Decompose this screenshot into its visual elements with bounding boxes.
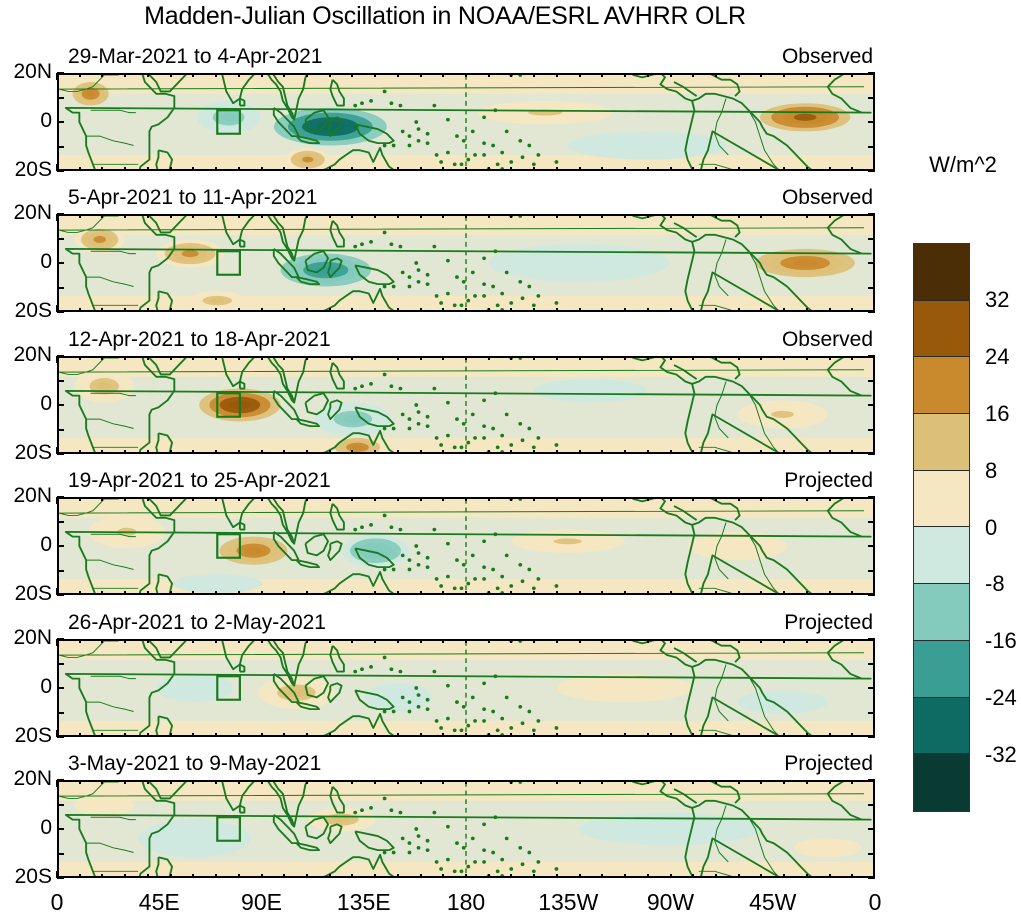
axis-tick: [306, 214, 308, 218]
colorbar-tick-label: 8: [985, 458, 997, 484]
axis-tick: [192, 639, 194, 643]
axis-tick: [261, 167, 263, 171]
colorbar-tick-label: 0: [985, 515, 997, 541]
axis-tick: [624, 214, 626, 218]
axis-tick: [760, 356, 762, 360]
axis-tick: [851, 591, 853, 595]
axis-tick: [329, 591, 331, 595]
axis-tick: [829, 308, 831, 312]
axis-tick: [670, 73, 672, 77]
longitude-tick-label: 0: [869, 889, 882, 916]
axis-tick: [57, 355, 64, 357]
axis-tick: [647, 639, 649, 643]
axis-tick: [79, 356, 81, 360]
axis-tick: [624, 167, 626, 171]
axis-tick: [533, 73, 535, 77]
axis-tick: [57, 404, 64, 406]
axis-tick: [57, 570, 64, 572]
axis-tick: [215, 450, 217, 454]
axis-tick: [738, 639, 740, 643]
axis-tick: [351, 639, 353, 643]
axis-tick: [510, 733, 512, 737]
longitude-tick-label: 135W: [538, 889, 598, 916]
axis-tick: [868, 496, 875, 498]
axis-tick: [215, 214, 217, 218]
axis-tick: [101, 167, 103, 171]
axis-tick: [420, 308, 422, 312]
axis-tick: [442, 639, 444, 643]
axis-tick: [868, 287, 875, 289]
axis-tick: [510, 167, 512, 171]
axis-tick: [329, 356, 331, 360]
axis-tick: [101, 356, 103, 360]
axis-tick: [868, 828, 875, 830]
axis-tick: [420, 73, 422, 77]
axis-tick: [420, 167, 422, 171]
axis-tick: [851, 214, 853, 218]
colorbar-band: [914, 357, 969, 414]
axis-tick: [692, 733, 694, 737]
axis-tick: [79, 450, 81, 454]
axis-tick: [647, 214, 649, 218]
axis-tick: [715, 780, 717, 784]
axis-tick: [488, 733, 490, 737]
latitude-tick-label: 20S: [0, 299, 52, 323]
axis-tick: [692, 356, 694, 360]
axis-tick: [147, 497, 149, 501]
axis-tick: [374, 639, 376, 643]
axis-tick: [488, 308, 490, 312]
axis-tick: [783, 780, 785, 784]
panel-status-label: Projected: [784, 469, 873, 493]
map-panel: [57, 780, 875, 878]
axis-tick: [170, 73, 172, 77]
axis-tick: [442, 356, 444, 360]
colorbar-tick-label: -32: [985, 742, 1017, 768]
axis-tick: [868, 545, 875, 547]
axis-tick: [510, 214, 512, 218]
axis-tick: [306, 639, 308, 643]
axis-tick: [442, 73, 444, 77]
axis-tick: [147, 356, 149, 360]
axis-tick: [397, 780, 399, 784]
axis-tick: [510, 780, 512, 784]
axis-tick: [488, 874, 490, 878]
axis-tick: [261, 874, 263, 878]
axis-tick: [624, 450, 626, 454]
axis-tick: [124, 874, 126, 878]
axis-tick: [579, 874, 581, 878]
axis-tick: [510, 450, 512, 454]
axis-tick: [238, 167, 240, 171]
panel-status-label: Projected: [784, 752, 873, 776]
axis-tick: [806, 639, 808, 643]
axis-tick: [556, 733, 558, 737]
axis-tick: [397, 639, 399, 643]
axis-tick: [533, 639, 535, 643]
axis-tick: [579, 450, 581, 454]
axis-tick: [374, 733, 376, 737]
axis-tick: [215, 780, 217, 784]
axis-tick: [601, 308, 603, 312]
axis-tick: [738, 874, 740, 878]
axis-tick: [374, 167, 376, 171]
axis-tick: [397, 450, 399, 454]
axis-tick: [647, 167, 649, 171]
axis-tick: [306, 733, 308, 737]
axis-tick: [215, 639, 217, 643]
colorbar-band: [914, 527, 969, 584]
axis-tick: [215, 733, 217, 737]
axis-tick: [868, 170, 875, 172]
axis-tick: [624, 497, 626, 501]
axis-tick: [715, 73, 717, 77]
axis-tick: [124, 450, 126, 454]
axis-tick: [442, 874, 444, 878]
axis-tick: [57, 638, 64, 640]
latitude-tick-label: 20N: [0, 201, 52, 225]
axis-tick: [283, 497, 285, 501]
axis-tick: [351, 167, 353, 171]
colorbar-band: [914, 414, 969, 471]
axis-tick: [601, 497, 603, 501]
axis-tick: [192, 214, 194, 218]
axis-tick: [533, 591, 535, 595]
axis-tick: [238, 780, 240, 784]
axis-tick: [533, 780, 535, 784]
axis-tick: [510, 73, 512, 77]
axis-tick: [647, 780, 649, 784]
axis-tick: [261, 356, 263, 360]
axis-tick: [556, 639, 558, 643]
axis-tick: [374, 73, 376, 77]
latitude-tick-label: 20S: [0, 724, 52, 748]
axis-tick: [579, 639, 581, 643]
axis-tick: [170, 356, 172, 360]
axis-tick: [329, 167, 331, 171]
axis-tick: [261, 780, 263, 784]
axis-tick: [465, 874, 467, 878]
axis-tick: [868, 570, 875, 572]
axis-tick: [238, 497, 240, 501]
axis-tick: [670, 308, 672, 312]
axis-tick: [124, 214, 126, 218]
axis-tick: [238, 356, 240, 360]
axis-tick: [647, 591, 649, 595]
panel-date-range: 19-Apr-2021 to 25-Apr-2021: [68, 469, 331, 493]
axis-tick: [851, 450, 853, 454]
axis-tick: [192, 874, 194, 878]
axis-tick: [147, 780, 149, 784]
axis-tick: [261, 214, 263, 218]
axis-tick: [624, 639, 626, 643]
axis-tick: [624, 591, 626, 595]
axis-tick: [283, 73, 285, 77]
axis-tick: [79, 167, 81, 171]
axis-tick: [351, 874, 353, 878]
axis-tick: [738, 73, 740, 77]
latitude-tick-label: 20S: [0, 158, 52, 182]
axis-tick: [329, 780, 331, 784]
axis-tick: [715, 591, 717, 595]
axis-tick: [57, 262, 64, 264]
axis-tick: [510, 308, 512, 312]
axis-tick: [692, 450, 694, 454]
axis-tick: [283, 874, 285, 878]
axis-tick: [624, 73, 626, 77]
axis-tick: [851, 167, 853, 171]
axis-tick: [238, 874, 240, 878]
colorbar-band: [914, 471, 969, 528]
axis-tick: [283, 639, 285, 643]
axis-tick: [829, 497, 831, 501]
axis-tick: [79, 874, 81, 878]
axis-tick: [579, 497, 581, 501]
axis-tick: [397, 733, 399, 737]
axis-tick: [488, 780, 490, 784]
axis-tick: [238, 214, 240, 218]
axis-tick: [579, 591, 581, 595]
axis-tick: [868, 72, 875, 74]
axis-tick: [351, 497, 353, 501]
axis-tick: [261, 73, 263, 77]
axis-tick: [170, 780, 172, 784]
axis-tick: [510, 356, 512, 360]
axis-tick: [57, 779, 64, 781]
longitude-tick-label: 0: [51, 889, 64, 916]
colorbar-tick-label: -24: [985, 685, 1017, 711]
axis-tick: [851, 497, 853, 501]
axis-tick: [283, 308, 285, 312]
axis-tick: [783, 308, 785, 312]
axis-tick: [806, 73, 808, 77]
axis-tick: [442, 308, 444, 312]
axis-tick: [215, 73, 217, 77]
axis-tick: [868, 521, 875, 523]
axis-tick: [351, 73, 353, 77]
axis-tick: [829, 780, 831, 784]
latitude-tick-label: 20N: [0, 60, 52, 84]
axis-tick: [670, 591, 672, 595]
axis-tick: [170, 450, 172, 454]
axis-tick: [760, 214, 762, 218]
axis-tick: [57, 853, 64, 855]
panel-status-label: Observed: [782, 45, 873, 69]
axis-tick: [465, 639, 467, 643]
panel-status-label: Projected: [784, 611, 873, 635]
axis-tick: [760, 167, 762, 171]
axis-tick: [647, 874, 649, 878]
axis-tick: [556, 73, 558, 77]
axis-tick: [783, 73, 785, 77]
axis-tick: [692, 308, 694, 312]
latitude-tick-label: 0: [0, 533, 52, 557]
axis-tick: [868, 453, 875, 455]
axis-tick: [783, 450, 785, 454]
axis-tick: [624, 874, 626, 878]
panel-date-range: 26-Apr-2021 to 2-May-2021: [68, 611, 326, 635]
axis-tick: [306, 591, 308, 595]
axis-tick: [238, 73, 240, 77]
colorbar-tick-label: 32: [985, 287, 1009, 313]
axis-tick: [147, 308, 149, 312]
axis-tick: [124, 591, 126, 595]
axis-tick: [829, 356, 831, 360]
panel-status-label: Observed: [782, 186, 873, 210]
axis-tick: [715, 214, 717, 218]
axis-tick: [851, 308, 853, 312]
axis-tick: [715, 356, 717, 360]
axis-tick: [624, 308, 626, 312]
axis-tick: [215, 308, 217, 312]
axis-tick: [579, 214, 581, 218]
axis-tick: [57, 521, 64, 523]
axis-tick: [738, 308, 740, 312]
axis-tick: [283, 356, 285, 360]
axis-tick: [306, 167, 308, 171]
axis-tick: [420, 874, 422, 878]
axis-tick: [192, 167, 194, 171]
colorbar-unit-label: W/m^2: [913, 152, 1013, 178]
axis-tick: [351, 780, 353, 784]
axis-tick: [829, 591, 831, 595]
axis-tick: [57, 453, 64, 455]
axis-tick: [397, 214, 399, 218]
axis-tick: [783, 591, 785, 595]
axis-tick: [238, 639, 240, 643]
axis-tick: [351, 591, 353, 595]
axis-tick: [806, 874, 808, 878]
axis-tick: [374, 874, 376, 878]
axis-tick: [533, 874, 535, 878]
axis-tick: [806, 733, 808, 737]
axis-tick: [829, 167, 831, 171]
axis-tick: [329, 639, 331, 643]
axis-tick: [329, 497, 331, 501]
axis-tick: [692, 497, 694, 501]
axis-tick: [192, 733, 194, 737]
axis-tick: [465, 73, 467, 77]
axis-tick: [692, 874, 694, 878]
axis-tick: [533, 308, 535, 312]
axis-tick: [170, 497, 172, 501]
colorbar-tick-label: 24: [985, 344, 1009, 370]
axis-tick: [57, 97, 64, 99]
axis-tick: [420, 450, 422, 454]
latitude-tick-label: 0: [0, 816, 52, 840]
axis-tick: [647, 450, 649, 454]
axis-tick: [647, 733, 649, 737]
axis-tick: [624, 356, 626, 360]
axis-tick: [124, 497, 126, 501]
axis-tick: [101, 214, 103, 218]
axis-tick: [692, 167, 694, 171]
axis-tick: [306, 308, 308, 312]
axis-tick: [101, 639, 103, 643]
axis-tick: [579, 167, 581, 171]
latitude-tick-label: 20S: [0, 582, 52, 606]
axis-tick: [868, 853, 875, 855]
latitude-tick-label: 20S: [0, 865, 52, 889]
axis-tick: [238, 591, 240, 595]
axis-tick: [783, 167, 785, 171]
axis-tick: [868, 687, 875, 689]
axis-tick: [601, 733, 603, 737]
axis-tick: [488, 639, 490, 643]
axis-tick: [715, 167, 717, 171]
axis-tick: [829, 639, 831, 643]
axis-tick: [488, 450, 490, 454]
longitude-tick-label: 135E: [337, 889, 391, 916]
axis-tick: [533, 167, 535, 171]
mjo-olr-figure: Madden-Julian Oscillation in NOAA/ESRL A…: [0, 0, 1021, 920]
axis-tick: [79, 73, 81, 77]
axis-tick: [556, 591, 558, 595]
axis-tick: [465, 591, 467, 595]
axis-tick: [783, 874, 785, 878]
axis-tick: [57, 687, 64, 689]
axis-tick: [829, 733, 831, 737]
panel-date-range: 12-Apr-2021 to 18-Apr-2021: [68, 328, 331, 352]
axis-tick: [829, 874, 831, 878]
axis-tick: [488, 167, 490, 171]
axis-tick: [624, 733, 626, 737]
axis-tick: [57, 594, 64, 596]
map-panel: [57, 356, 875, 454]
axis-tick: [57, 146, 64, 148]
axis-tick: [57, 712, 64, 714]
axis-tick: [79, 780, 81, 784]
axis-tick: [57, 170, 64, 172]
axis-tick: [147, 639, 149, 643]
axis-tick: [397, 308, 399, 312]
axis-tick: [868, 877, 875, 879]
axis-tick: [829, 73, 831, 77]
axis-tick: [374, 308, 376, 312]
axis-tick: [601, 639, 603, 643]
axis-tick: [170, 214, 172, 218]
axis-tick: [420, 733, 422, 737]
axis-tick: [101, 591, 103, 595]
axis-tick: [868, 429, 875, 431]
axis-tick: [670, 214, 672, 218]
axis-tick: [215, 591, 217, 595]
axis-tick: [715, 733, 717, 737]
axis-tick: [760, 73, 762, 77]
axis-tick: [647, 356, 649, 360]
axis-tick: [579, 308, 581, 312]
axis-tick: [57, 736, 64, 738]
axis-tick: [283, 167, 285, 171]
colorbar-band: [914, 301, 969, 358]
axis-tick: [806, 214, 808, 218]
axis-tick: [465, 497, 467, 501]
axis-tick: [556, 356, 558, 360]
axis-tick: [579, 780, 581, 784]
axis-tick: [57, 72, 64, 74]
panel-status-label: Observed: [782, 328, 873, 352]
axis-tick: [261, 308, 263, 312]
latitude-tick-label: 0: [0, 675, 52, 699]
axis-tick: [806, 356, 808, 360]
axis-tick: [510, 497, 512, 501]
axis-tick: [79, 214, 81, 218]
axis-tick: [147, 450, 149, 454]
axis-tick: [192, 73, 194, 77]
axis-tick: [306, 73, 308, 77]
axis-tick: [442, 450, 444, 454]
axis-tick: [760, 308, 762, 312]
